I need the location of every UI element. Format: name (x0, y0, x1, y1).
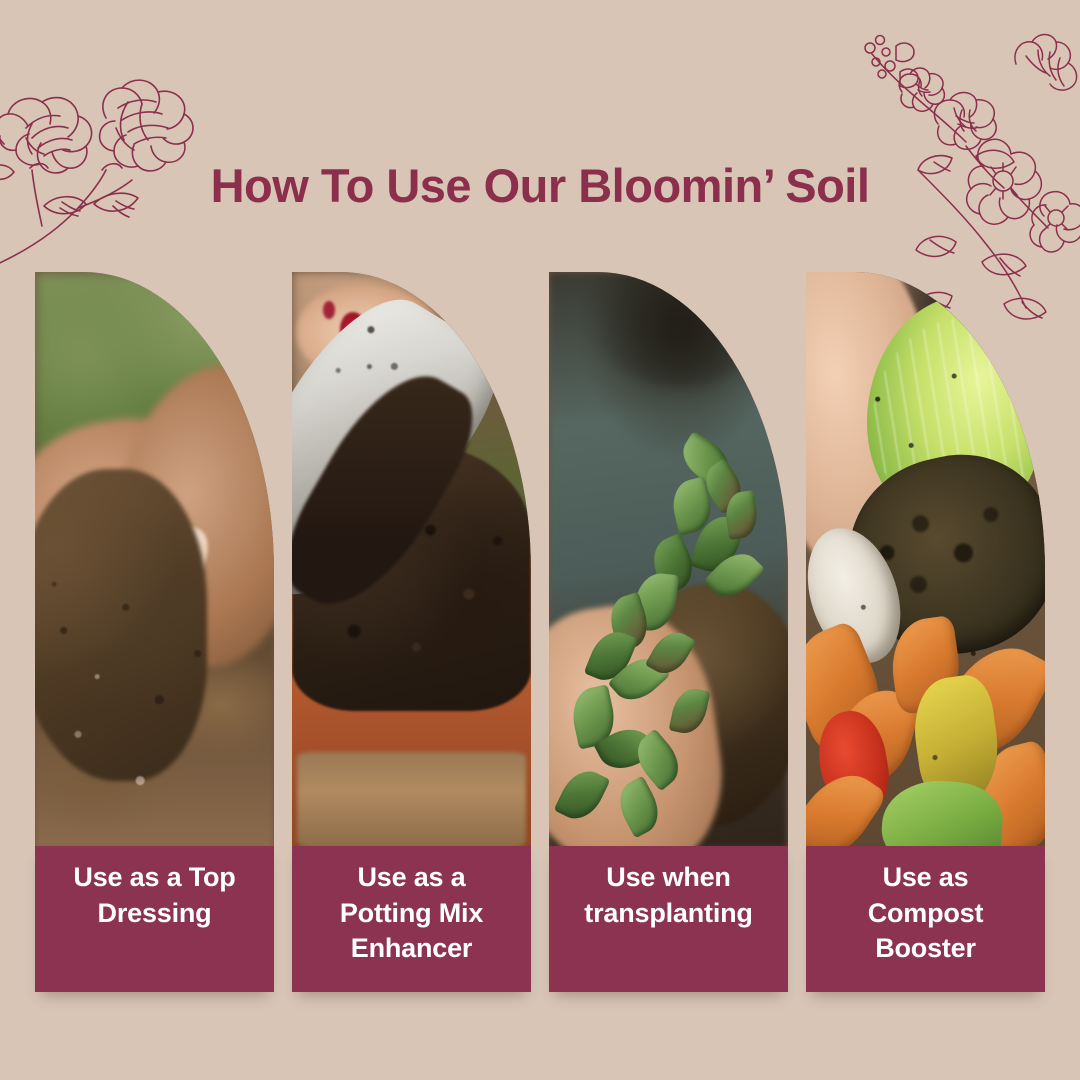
caption-line: Potting Mix (340, 896, 483, 932)
caption-line: Use as a Top (73, 860, 235, 896)
caption-line: Enhancer (340, 931, 483, 967)
caption-line: Booster (868, 931, 984, 967)
page-title: How To Use Our Bloomin’ Soil (0, 160, 1080, 212)
usage-card-caption: Use as Compost Booster (806, 846, 1045, 992)
usage-card-caption: Use when transplanting (549, 846, 788, 992)
usage-card-compost-booster: Use as Compost Booster (806, 272, 1045, 992)
succulent-transplanting-photo (549, 272, 788, 850)
caption-line: Dressing (73, 896, 235, 932)
caption-line: Use as (868, 860, 984, 896)
usage-card-potting-mix-enhancer: Use as a Potting Mix Enhancer (292, 272, 531, 992)
trowel-filling-terracotta-pot-photo (292, 272, 531, 850)
hands-holding-dark-soil-photo (35, 272, 274, 850)
usage-card-transplanting: Use when transplanting (549, 272, 788, 992)
caption-line: Use as a (340, 860, 483, 896)
caption-line: Use when (584, 860, 752, 896)
usage-card-caption: Use as a Top Dressing (35, 846, 274, 992)
usage-card-caption: Use as a Potting Mix Enhancer (292, 846, 531, 992)
usage-card-top-dressing: Use as a Top Dressing (35, 272, 274, 992)
caption-line: transplanting (584, 896, 752, 932)
usage-steps-grid: Use as a Top Dressing (35, 272, 1045, 992)
caption-line: Compost (868, 896, 984, 932)
kitchen-scraps-compost-photo (806, 272, 1045, 850)
